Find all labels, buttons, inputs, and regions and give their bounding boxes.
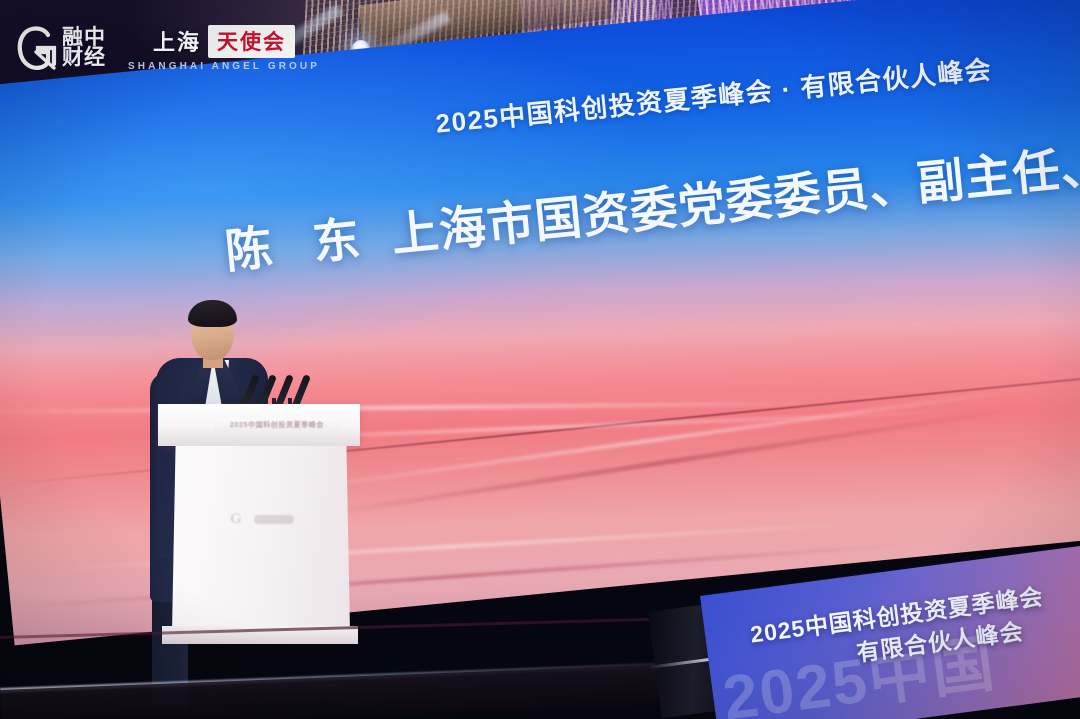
logo-sh-english: SHANGHAI ANGEL GROUP	[128, 61, 320, 72]
g-letter-icon	[14, 22, 60, 74]
speaker-title: 上海市国资委党委委员、副主任、一级巡视员	[389, 115, 1080, 261]
podium-logo: G	[230, 508, 330, 530]
logo-chinese-venture: 融中 财经	[14, 22, 106, 74]
brand-logo-bar: 融中 财经 上海 天使会 SHANGHAI ANGEL GROUP	[14, 22, 320, 74]
podium-nameplate: 2025中国科创投资夏季峰会	[214, 419, 340, 432]
logo-sh-row: 上海 天使会	[153, 25, 295, 58]
logo-shanghai-angel-group: 上海 天使会 SHANGHAI ANGEL GROUP	[128, 25, 320, 72]
speaker-line: 陈 东上海市国资委党委委员、副主任、一级巡视员	[221, 103, 1080, 282]
logo-sh-badge: 天使会	[208, 25, 295, 58]
logo-cv-line1: 融中	[62, 28, 106, 48]
podium-logo-letter: G	[230, 511, 242, 528]
stage-front-shadow	[0, 661, 761, 719]
speaker-name: 陈 东	[223, 210, 377, 277]
event-title: 2025中国科创投资夏季峰会 · 有限合伙人峰会	[434, 49, 994, 140]
conference-stage-screenshot: 2025中国科创投资夏季峰会 · 有限合伙人峰会 陈 东上海市国资委党委委员、副…	[0, 0, 1080, 719]
podium-body	[172, 446, 350, 632]
podium-logo-mark	[254, 515, 294, 524]
logo-sh-prefix: 上海	[153, 25, 201, 57]
logo-chinese-venture-cn: 融中 财经	[62, 28, 106, 68]
logo-cv-line2: 财经	[62, 48, 106, 68]
podium-nameplate-text: 2025中国科创投资夏季峰会	[214, 419, 340, 432]
